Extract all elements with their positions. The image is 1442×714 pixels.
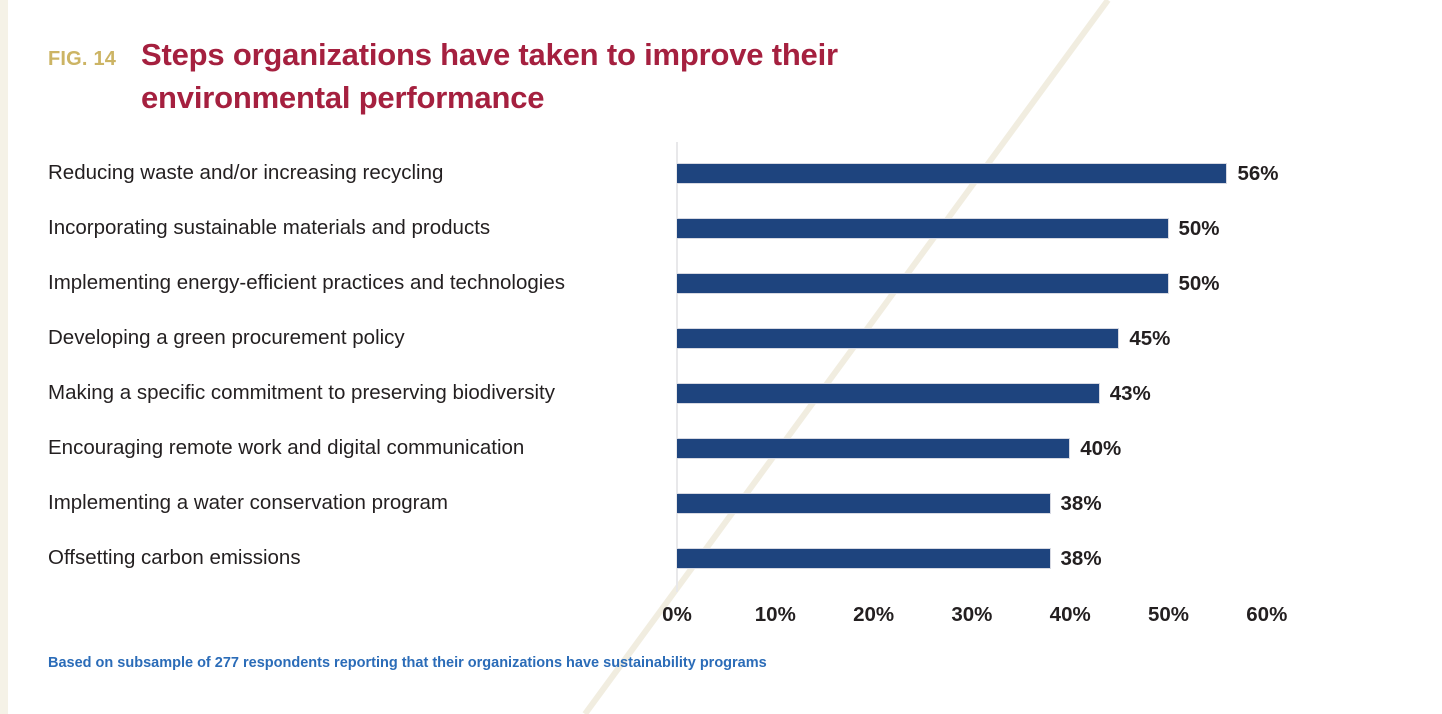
y-axis-line <box>676 142 678 592</box>
bar <box>677 493 1051 514</box>
bar <box>677 438 1070 459</box>
figure-footnote: Based on subsample of 277 respondents re… <box>48 655 767 671</box>
x-axis-tick-label: 10% <box>755 600 796 630</box>
bar-category-label: Offsetting carbon emissions <box>48 543 659 573</box>
bar-track: 40% <box>677 438 1442 459</box>
bar-value-label: 40% <box>1080 438 1121 459</box>
bar-value-label: 38% <box>1061 548 1102 569</box>
bar-category-label: Incorporating sustainable materials and … <box>48 213 659 243</box>
bar <box>677 328 1119 349</box>
bar-row: Implementing energy-efficient practices … <box>0 268 1442 298</box>
bar-value-label: 56% <box>1237 163 1278 184</box>
bar-value-label: 50% <box>1179 273 1220 294</box>
bar <box>677 218 1169 239</box>
x-axis-ticks: 0%10%20%30%40%50%60% <box>0 600 1442 630</box>
bar-row: Encouraging remote work and digital comm… <box>0 433 1442 463</box>
bar-category-label: Reducing waste and/or increasing recycli… <box>48 158 659 188</box>
bar <box>677 548 1051 569</box>
bar-row: Making a specific commitment to preservi… <box>0 378 1442 408</box>
bar-track: 45% <box>677 328 1442 349</box>
bar-category-label: Making a specific commitment to preservi… <box>48 378 659 408</box>
x-axis-tick-label: 0% <box>662 600 692 630</box>
plot-area: Reducing waste and/or increasing recycli… <box>0 0 1442 714</box>
bar-track: 56% <box>677 163 1442 184</box>
bar-category-label: Implementing energy-efficient practices … <box>48 268 659 298</box>
bar-track: 38% <box>677 493 1442 514</box>
bar <box>677 383 1100 404</box>
bar-value-label: 43% <box>1110 383 1151 404</box>
x-axis-tick-label: 40% <box>1050 600 1091 630</box>
bar-category-label: Implementing a water conservation progra… <box>48 488 659 518</box>
bar-row: Incorporating sustainable materials and … <box>0 213 1442 243</box>
bar-track: 50% <box>677 273 1442 294</box>
bar-value-label: 50% <box>1179 218 1220 239</box>
bar-track: 50% <box>677 218 1442 239</box>
x-axis-tick-label: 20% <box>853 600 894 630</box>
bar-row: Implementing a water conservation progra… <box>0 488 1442 518</box>
x-axis-tick-label: 50% <box>1148 600 1189 630</box>
bar-row: Reducing waste and/or increasing recycli… <box>0 158 1442 188</box>
bar <box>677 273 1169 294</box>
bar-row: Developing a green procurement policy45% <box>0 323 1442 353</box>
bar-row: Offsetting carbon emissions38% <box>0 543 1442 573</box>
bar-value-label: 45% <box>1129 328 1170 349</box>
x-axis-tick-label: 30% <box>951 600 992 630</box>
x-axis-tick-label: 60% <box>1246 600 1287 630</box>
bar-track: 43% <box>677 383 1442 404</box>
bar <box>677 163 1227 184</box>
bar-category-label: Developing a green procurement policy <box>48 323 659 353</box>
bar-category-label: Encouraging remote work and digital comm… <box>48 433 659 463</box>
bar-track: 38% <box>677 548 1442 569</box>
bar-value-label: 38% <box>1061 493 1102 514</box>
figure-container: FIG. 14 Steps organizations have taken t… <box>0 0 1442 714</box>
